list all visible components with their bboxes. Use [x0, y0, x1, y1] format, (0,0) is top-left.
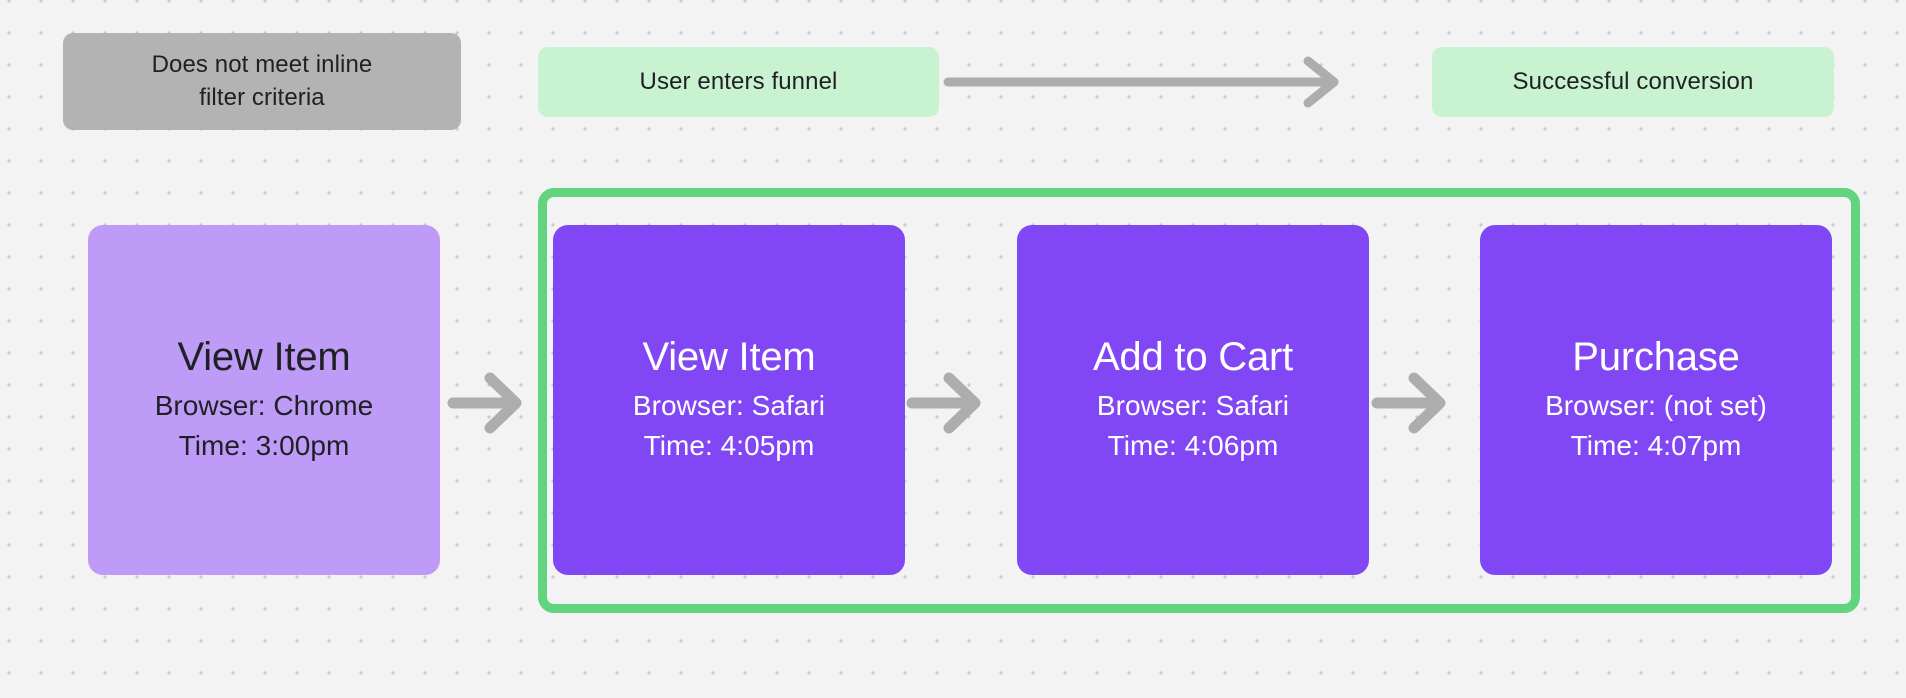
legend-successful-conversion-label: Successful conversion: [1513, 66, 1754, 98]
event-time: Time: 4:07pm: [1571, 426, 1742, 466]
legend-arrow-right-icon: [944, 56, 1344, 108]
legend-successful-conversion: Successful conversion: [1432, 47, 1834, 117]
legend-excluded-line-1: Does not meet inline: [152, 51, 373, 78]
flow-arrow-right-icon-3: [1372, 372, 1447, 434]
event-title: View Item: [642, 334, 815, 381]
event-browser: Browser: Safari: [1097, 386, 1289, 426]
flow-arrow-right-icon-1: [448, 372, 523, 434]
event-card-funnel-1: View Item Browser: Safari Time: 4:05pm: [553, 225, 905, 575]
event-title: Purchase: [1572, 334, 1739, 381]
event-browser: Browser: Safari: [633, 386, 825, 426]
event-title: Add to Cart: [1093, 334, 1293, 381]
diagram-canvas: Does not meet inline filter criteria Use…: [0, 0, 1906, 698]
legend-user-enters-funnel-label: User enters funnel: [640, 66, 838, 98]
event-title: View Item: [177, 334, 350, 381]
event-card-funnel-3: Purchase Browser: (not set) Time: 4:07pm: [1480, 225, 1832, 575]
event-card-excluded: View Item Browser: Chrome Time: 3:00pm: [88, 225, 440, 575]
legend-excluded-text: Does not meet inline filter criteria: [152, 49, 373, 114]
event-time: Time: 4:06pm: [1108, 426, 1279, 466]
event-card-funnel-2: Add to Cart Browser: Safari Time: 4:06pm: [1017, 225, 1369, 575]
legend-user-enters-funnel: User enters funnel: [538, 47, 939, 117]
event-time: Time: 3:00pm: [179, 426, 350, 466]
event-browser: Browser: Chrome: [155, 386, 374, 426]
flow-arrow-right-icon-2: [907, 372, 982, 434]
legend-excluded-criteria: Does not meet inline filter criteria: [63, 33, 461, 130]
event-time: Time: 4:05pm: [644, 426, 815, 466]
legend-excluded-line-2: filter criteria: [199, 84, 325, 111]
event-browser: Browser: (not set): [1545, 386, 1767, 426]
